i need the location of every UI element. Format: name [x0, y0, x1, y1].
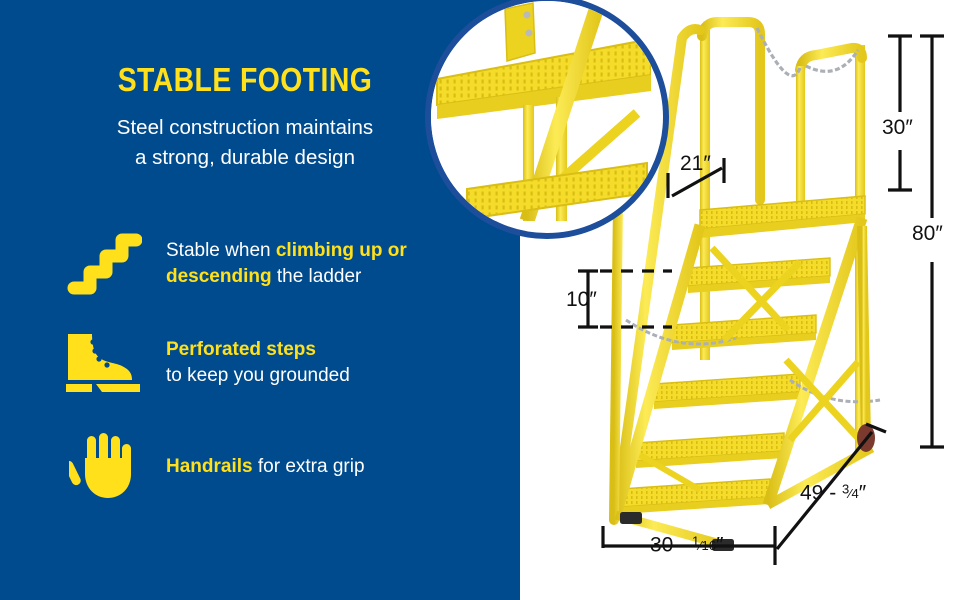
- closeup-bolt-2: [526, 30, 533, 37]
- dim-width-den: 16: [701, 538, 715, 553]
- dim-label-overall-height: 80″: [912, 222, 943, 246]
- dim-depth-suffix: ″: [859, 481, 866, 504]
- dim-depth-den: 4: [851, 486, 858, 501]
- closeup-bolt-1: [524, 12, 531, 19]
- stringer-left: [616, 225, 700, 515]
- closeup-drawing: [431, 1, 651, 221]
- rear-leg: [862, 226, 866, 440]
- dim-label-overall-depth: 49 - 3⁄4″: [800, 481, 866, 505]
- infographic-root: STABLE FOOTING Steel construction mainta…: [0, 0, 970, 600]
- dim-width-num: 1: [692, 533, 699, 548]
- rear-post-left: [700, 30, 710, 360]
- dim-label-platform-depth: 21″: [680, 152, 711, 176]
- dim-label-platform-height: 30″: [882, 116, 913, 140]
- perforated-step-closeup: [425, 0, 669, 239]
- dim-label-step-rise: 10″: [566, 288, 597, 312]
- dim-label-overall-width: 30 - 1⁄16″: [650, 533, 723, 557]
- dim-depth-num: 3: [842, 481, 849, 496]
- dim-width-prefix: 30 -: [650, 533, 692, 556]
- dim-width-suffix: ″: [716, 533, 723, 556]
- dim-depth-prefix: 49 -: [800, 481, 842, 504]
- foot-left: [620, 512, 642, 524]
